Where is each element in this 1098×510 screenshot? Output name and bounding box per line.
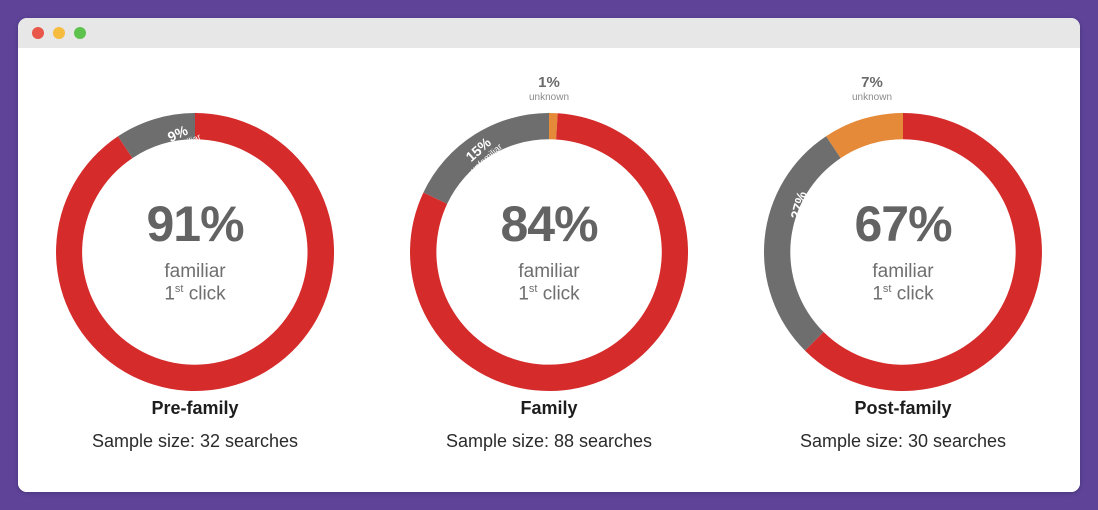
- donut-charts-row: 91% familiar 1st click 9% unfamiliar Pre…: [18, 48, 1080, 492]
- chart-title-pre-family: Pre-family: [151, 398, 238, 419]
- donut-svg-post-family: [753, 66, 1053, 396]
- window-content-area: 91% familiar 1st click 9% unfamiliar Pre…: [18, 48, 1080, 492]
- donut-svg-pre-family: [45, 66, 345, 396]
- close-window-button[interactable]: [32, 27, 44, 39]
- chart-sample-size-post-family: Sample size: 30 searches: [800, 431, 1006, 452]
- chart-sample-size-family: Sample size: 88 searches: [446, 431, 652, 452]
- maximize-window-button[interactable]: [74, 27, 86, 39]
- chart-sample-size-pre-family: Sample size: 32 searches: [92, 431, 298, 452]
- donut-chart-family: 84% familiar 1st click 1% unknown 15% un…: [399, 66, 699, 396]
- slice-unknown: [826, 113, 903, 158]
- donut-chart-pre-family: 91% familiar 1st click 9% unfamiliar: [45, 66, 345, 396]
- chart-title-family: Family: [520, 398, 577, 419]
- slice-unfamiliar: [764, 136, 841, 350]
- slice-unfamiliar: [118, 113, 195, 158]
- browser-window: 91% familiar 1st click 9% unfamiliar Pre…: [18, 18, 1080, 492]
- slice-familiar: [56, 113, 334, 391]
- chart-title-post-family: Post-family: [854, 398, 951, 419]
- donut-chart-post-family: 67% familiar 1st click 7% unknown 27% un…: [753, 66, 1053, 396]
- window-title-bar: [18, 18, 1080, 48]
- donut-chart-card-post-family: 67% familiar 1st click 7% unknown 27% un…: [726, 66, 1080, 452]
- donut-svg-family: [399, 66, 699, 396]
- slice-unfamiliar: [423, 113, 549, 204]
- minimize-window-button[interactable]: [53, 27, 65, 39]
- donut-chart-card-family: 84% familiar 1st click 1% unknown 15% un…: [372, 66, 726, 452]
- donut-chart-card-pre-family: 91% familiar 1st click 9% unfamiliar Pre…: [18, 66, 372, 452]
